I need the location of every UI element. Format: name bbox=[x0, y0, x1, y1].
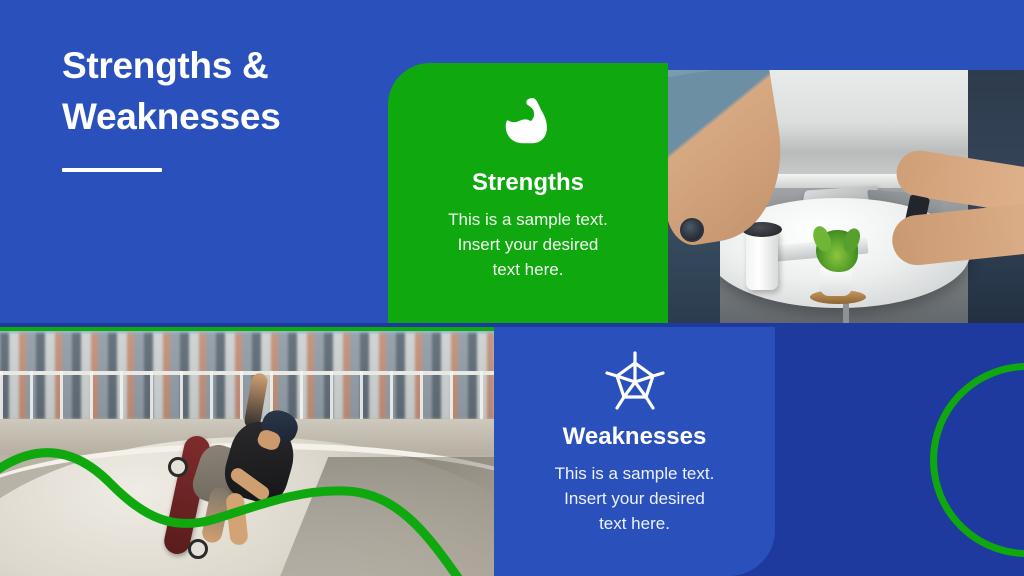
body-line-2: Insert your desired bbox=[458, 235, 599, 254]
body-line-1: This is a sample text. bbox=[555, 464, 715, 483]
card-weaknesses[interactable]: Weaknesses This is a sample text.Insert … bbox=[494, 327, 775, 576]
title-underline bbox=[62, 168, 162, 172]
page-title: Strengths &Weaknesses bbox=[62, 40, 392, 142]
card-strengths[interactable]: Strengths This is a sample text.Insert y… bbox=[388, 63, 668, 323]
body-line-3: text here. bbox=[599, 514, 670, 533]
meeting-photo bbox=[668, 70, 1024, 323]
skateboard-photo bbox=[0, 327, 494, 576]
flexed-bicep-icon bbox=[497, 93, 559, 155]
card-strengths-body: This is a sample text.Insert your desire… bbox=[413, 207, 643, 282]
green-top-divider bbox=[0, 327, 494, 331]
card-weaknesses-title: Weaknesses bbox=[563, 423, 707, 451]
body-line-1: This is a sample text. bbox=[448, 210, 608, 229]
body-line-3: text here. bbox=[493, 260, 564, 279]
wristwatch bbox=[680, 218, 704, 242]
slide-canvas: Strengths &Weaknesses Strengths bbox=[0, 0, 1024, 576]
title-line-1: Strengths & bbox=[62, 45, 268, 86]
card-strengths-title: Strengths bbox=[472, 169, 584, 197]
coffee-cup bbox=[746, 230, 778, 290]
card-weaknesses-body: This is a sample text.Insert your desire… bbox=[517, 461, 753, 536]
title-line-2: Weaknesses bbox=[62, 96, 280, 137]
green-wave-line bbox=[0, 427, 494, 576]
slide-title-block: Strengths &Weaknesses bbox=[62, 40, 392, 172]
body-line-2: Insert your desired bbox=[564, 489, 705, 508]
broken-pentagon-icon bbox=[603, 349, 667, 413]
